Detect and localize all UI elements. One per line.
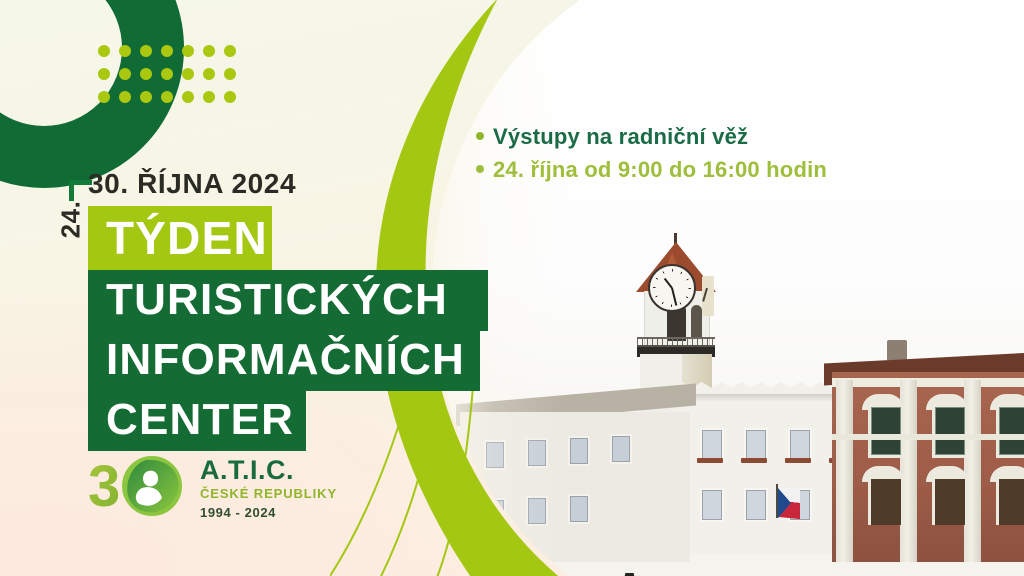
window [484, 498, 506, 528]
dot [161, 45, 173, 57]
banner-canvas: 24. 30. ŘÍJNA 2024 TÝDEN TURISTICKÝCH IN… [0, 0, 1024, 576]
edition-number: 24. [56, 185, 87, 255]
bullet-dot-icon [476, 132, 484, 140]
dot [98, 68, 110, 80]
logo-subtitle: ČESKÉ REPUBLIKY [200, 487, 337, 500]
list-item: Výstupy na radniční věž [476, 124, 827, 150]
window [788, 428, 812, 462]
logo-name: A.T.I.C. [200, 457, 337, 484]
bullet-dot-icon [476, 165, 484, 173]
logo-years: 1994 - 2024 [200, 506, 337, 519]
door [868, 476, 904, 525]
window [526, 496, 548, 526]
window [700, 488, 724, 522]
dot-grid [94, 40, 240, 108]
dot [119, 68, 131, 80]
detail-text: 24. října od 9:00 do 16:00 hodin [493, 157, 827, 183]
window-sill [741, 458, 767, 463]
dot [119, 91, 131, 103]
title-line-3: INFORMAČNÍCH [88, 330, 480, 391]
dot [182, 91, 194, 103]
czech-flag-triangle [778, 488, 791, 518]
window [932, 404, 968, 458]
dot [119, 45, 131, 57]
dot [161, 68, 173, 80]
chimney [887, 340, 907, 360]
title-line-1: TÝDEN [88, 206, 272, 271]
dot [182, 68, 194, 80]
title-line-4: CENTER [88, 390, 306, 451]
window [996, 404, 1024, 458]
window [744, 428, 768, 462]
event-details-list: Výstupy na radniční věž 24. října od 9:0… [476, 124, 827, 190]
town-square-photo [432, 0, 1024, 576]
window-sill [697, 458, 723, 463]
dot [224, 45, 236, 57]
atic-logo[interactable]: 3 A.T.I.C. ČESKÉ REPUBLIKY 1994 - 2024 [88, 448, 337, 524]
dot [224, 91, 236, 103]
photo-panel [432, 0, 1024, 576]
atic-logo-mark: 3 [88, 448, 188, 524]
atic-logo-text: A.T.I.C. ČESKÉ REPUBLIKY 1994 - 2024 [200, 453, 337, 519]
door [996, 476, 1024, 525]
dot [203, 45, 215, 57]
dot [224, 68, 236, 80]
clock-face-front [648, 264, 696, 312]
window-sill [785, 458, 811, 463]
window [568, 494, 590, 524]
mid-cornice [832, 434, 1024, 440]
dot [98, 91, 110, 103]
detail-text: Výstupy na radniční věž [493, 124, 748, 150]
window [526, 438, 548, 468]
anniversary-30-icon: 3 [88, 448, 188, 524]
list-item: 24. října od 9:00 do 16:00 hodin [476, 157, 827, 183]
window [568, 436, 590, 466]
dot [203, 68, 215, 80]
dot [203, 91, 215, 103]
window [610, 434, 632, 464]
dot [140, 68, 152, 80]
title-line-2: TURISTICKÝCH [88, 270, 488, 331]
edition-tag: 24. [52, 186, 92, 260]
pilaster [836, 380, 853, 562]
event-date: 30. ŘÍJNA 2024 [88, 168, 296, 200]
dot [182, 45, 194, 57]
upper-cornice [832, 378, 1024, 387]
dot [140, 91, 152, 103]
door [932, 476, 968, 525]
dot [161, 91, 173, 103]
dot [98, 45, 110, 57]
window [700, 428, 724, 462]
belfry-arch-right [691, 305, 702, 339]
event-title: TÝDEN TURISTICKÝCH INFORMAČNÍCH CENTER [88, 206, 488, 451]
dot [140, 45, 152, 57]
left-house [460, 412, 690, 562]
window [744, 488, 768, 522]
window [868, 404, 904, 458]
logo-number-3: 3 [88, 454, 120, 519]
